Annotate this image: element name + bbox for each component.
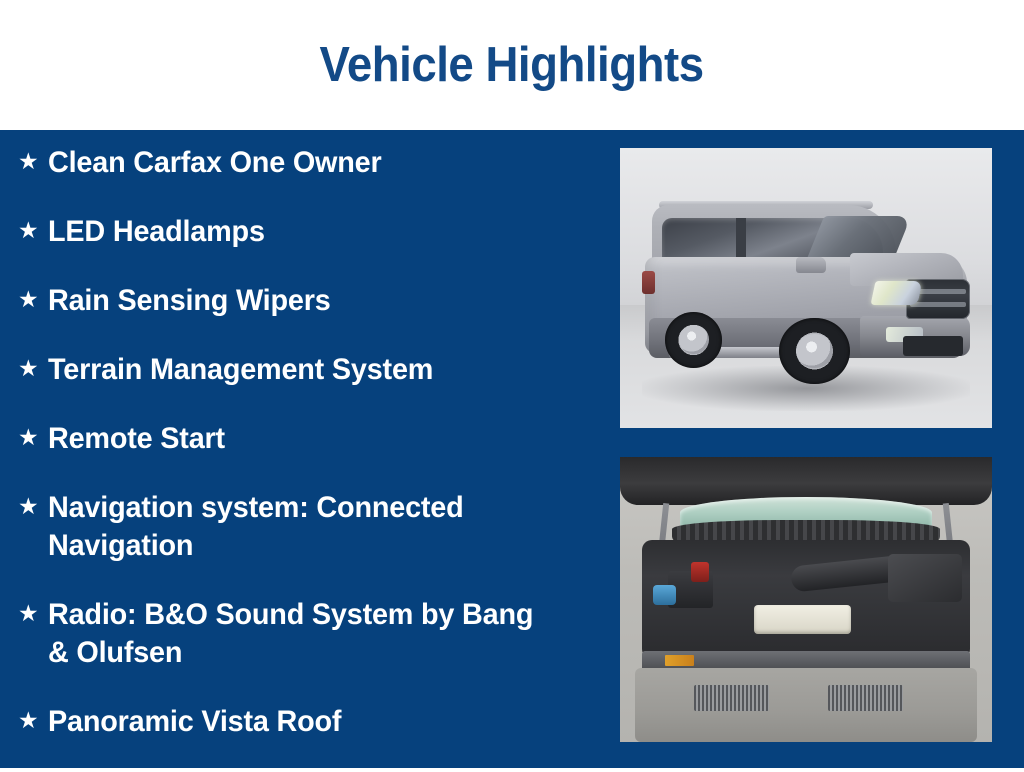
list-item: ★ LED Headlamps — [0, 213, 600, 282]
feature-label: Terrain Management System — [48, 351, 547, 389]
coolant-reservoir — [754, 605, 851, 634]
list-item: ★ Radio: B&O Sound System by Bang & Oluf… — [0, 596, 600, 703]
star-icon: ★ — [14, 351, 48, 385]
warning-label — [665, 655, 695, 666]
lower-grille-right — [828, 685, 902, 711]
washer-fluid-cap — [653, 585, 675, 605]
list-item: ★ Rain Sensing Wipers — [0, 282, 600, 351]
star-icon: ★ — [14, 213, 48, 247]
rear-rim — [679, 325, 709, 354]
feature-label: Remote Start — [48, 420, 547, 458]
vehicle-highlights-slide: Vehicle Highlights ★ Clean Carfax One Ow… — [0, 0, 1024, 768]
star-icon: ★ — [14, 489, 48, 523]
feature-label: Rain Sensing Wipers — [48, 282, 547, 320]
star-icon: ★ — [14, 144, 48, 178]
lower-grille-left — [694, 685, 768, 711]
list-item: ★ Terrain Management System — [0, 351, 600, 420]
vehicle-exterior-photo — [620, 148, 992, 428]
front-wheel — [779, 318, 849, 385]
star-icon: ★ — [14, 282, 48, 316]
list-item: ★ Remote Start — [0, 420, 600, 489]
feature-label: Radio: B&O Sound System by Bang & Olufse… — [48, 596, 547, 672]
lower-body-panel — [635, 668, 977, 742]
vehicle-engine-bay-photo — [620, 457, 992, 742]
positive-terminal-cover — [691, 562, 710, 582]
feature-label: LED Headlamps — [48, 213, 547, 251]
feature-label: Navigation system: Connected Navigation — [48, 489, 547, 565]
list-item: ★ Clean Carfax One Owner — [0, 144, 600, 213]
feature-label: Panoramic Vista Roof — [48, 703, 547, 741]
air-filter-box — [888, 554, 962, 602]
vehicle-photo-column — [620, 148, 992, 742]
list-item: ★ Panoramic Vista Roof — [0, 703, 600, 772]
taillight — [642, 271, 655, 293]
slide-header: Vehicle Highlights — [0, 0, 1024, 130]
vehicle-features-list: ★ Clean Carfax One Owner ★ LED Headlamps… — [0, 130, 600, 768]
rear-wheel — [665, 312, 722, 367]
list-item: ★ Navigation system: Connected Navigatio… — [0, 489, 600, 596]
star-icon: ★ — [14, 420, 48, 454]
feature-label: Clean Carfax One Owner — [48, 144, 547, 182]
led-headlight — [870, 281, 922, 305]
lower-air-dam — [903, 336, 963, 356]
star-icon: ★ — [14, 596, 48, 630]
page-title: Vehicle Highlights — [320, 37, 704, 93]
side-mirror — [796, 257, 826, 274]
star-icon: ★ — [14, 703, 48, 737]
front-rim — [796, 334, 833, 369]
slide-body: ★ Clean Carfax One Owner ★ LED Headlamps… — [0, 130, 1024, 768]
suv-illustration — [639, 201, 974, 386]
